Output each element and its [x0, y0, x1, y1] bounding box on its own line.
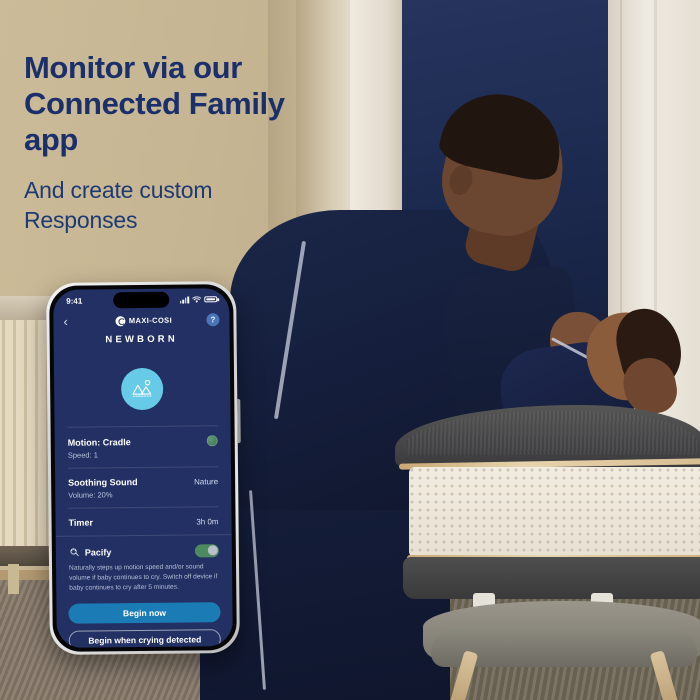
pacify-toggle[interactable] — [195, 544, 219, 557]
brand-name: MAXI-COSI — [129, 316, 172, 325]
setting-title: Soothing Sound — [68, 477, 138, 488]
mode-display — [54, 353, 231, 427]
maxi-cosi-bassinet — [395, 405, 700, 695]
chevron-left-icon[interactable]: ‹ — [63, 315, 81, 328]
status-bar: 9:41 — [53, 288, 229, 312]
pacify-icon — [69, 547, 80, 558]
settings-list: Motion: Cradle Speed: 1 Soothing Sound N… — [55, 425, 232, 536]
status-time: 9:41 — [66, 296, 82, 305]
status-badge — [207, 435, 218, 446]
promo-copy: Monitor via our Connected Family app And… — [24, 50, 324, 236]
setting-sub: Speed: 1 — [68, 449, 218, 460]
phone-mockup: 9:41 ‹ MAXI-COS — [46, 281, 240, 655]
dynamic-island — [113, 292, 169, 309]
setting-title: Motion: Cradle — [68, 437, 131, 448]
setting-sub: Volume: 20% — [68, 489, 218, 500]
setting-row-soothing-sound[interactable]: Soothing Sound Nature Volume: 20% — [68, 466, 218, 508]
pacify-title: Pacify — [85, 547, 112, 557]
page-subtitle: And create custom Responses — [24, 176, 324, 236]
begin-now-button[interactable]: Begin now — [68, 602, 220, 624]
mountains-moon-icon[interactable] — [121, 368, 163, 410]
brand-logo: MAXI-COSI — [116, 315, 172, 326]
phone-side-button[interactable] — [237, 399, 240, 443]
phone-body: 9:41 ‹ MAXI-COS — [49, 284, 237, 652]
pacify-description: Naturally steps up motion speed and/or s… — [69, 562, 219, 594]
begin-when-crying-button[interactable]: Begin when crying detected — [69, 629, 221, 648]
pacify-section: Pacify Naturally steps up motion speed a… — [56, 534, 233, 594]
setting-title: Timer — [69, 518, 93, 528]
page-title: Monitor via our Connected Family app — [24, 50, 324, 158]
battery-icon — [204, 296, 217, 303]
setting-row-motion[interactable]: Motion: Cradle Speed: 1 — [68, 425, 218, 468]
screen-title: NEWBORN — [54, 333, 230, 346]
setting-row-timer[interactable]: Timer 3h 0m — [68, 506, 218, 536]
wifi-icon — [192, 296, 201, 303]
setting-value: Nature — [194, 477, 218, 486]
app-navbar: ‹ MAXI-COSI ? — [53, 310, 229, 328]
action-buttons: Begin now Begin when crying detected Can… — [56, 593, 233, 648]
help-icon[interactable]: ? — [206, 313, 219, 326]
cellular-signal-icon — [180, 296, 189, 303]
maxi-cosi-logo-icon — [116, 316, 126, 326]
app-screen: 9:41 ‹ MAXI-COS — [53, 288, 233, 648]
setting-value: 3h 0m — [196, 517, 218, 526]
